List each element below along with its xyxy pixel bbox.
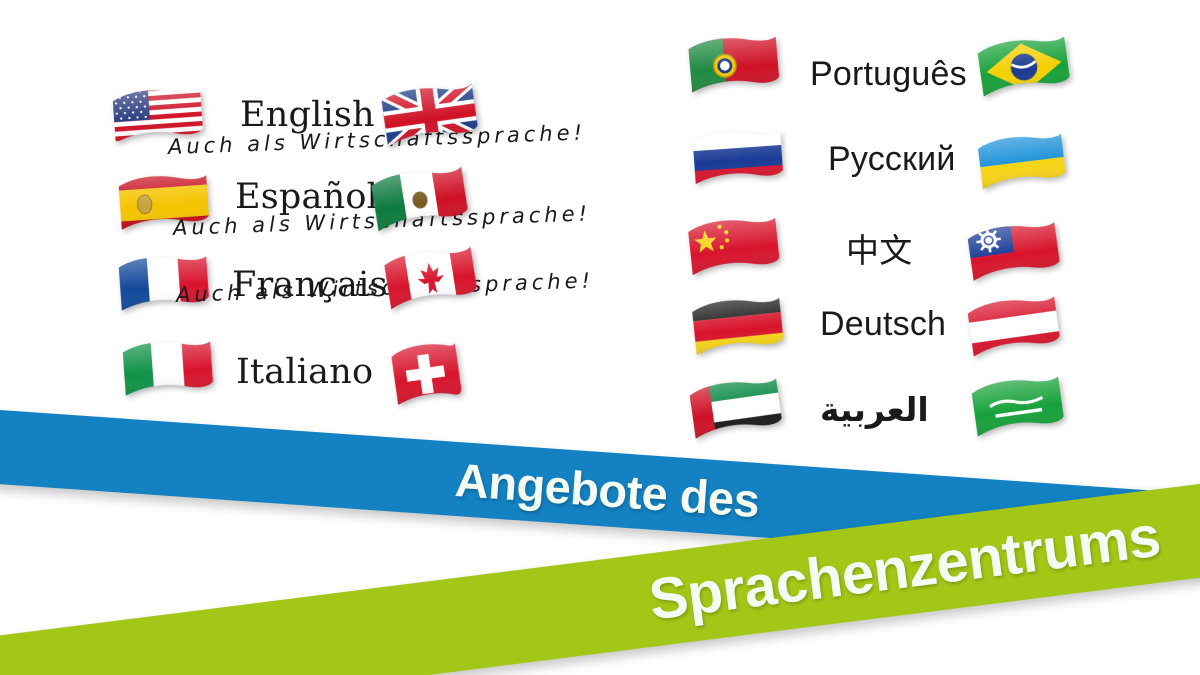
banner-title-primary: Angebote des (453, 451, 761, 527)
uk-flag (378, 78, 482, 155)
language-label-portuguese: Português (810, 55, 967, 94)
italy-flag (120, 335, 216, 403)
language-label-chinese: 中文 (846, 224, 912, 272)
tagline-english: Auch als Wirtschaftssprache! (168, 120, 587, 159)
language-label-italian: Italiano (236, 352, 373, 392)
saudi-arabia-flag (968, 370, 1068, 444)
language-label-russian: Русский (828, 140, 956, 179)
russia-flag (690, 125, 786, 191)
germany-flag (689, 291, 787, 362)
poster-canvas: English Auch als Wirtschaftssprache! (0, 0, 1200, 675)
austria-flag (964, 290, 1064, 364)
ukraine-flag (975, 128, 1069, 196)
uae-flag (686, 372, 786, 446)
language-label-german: Deutsch (820, 305, 946, 344)
language-label-arabic: العربية (820, 390, 929, 429)
taiwan-flag (964, 216, 1063, 288)
china-flag (685, 211, 783, 282)
brazil-flag (974, 30, 1074, 104)
portugal-flag (685, 30, 782, 100)
switzerland-flag (386, 335, 467, 412)
canada-flag (381, 241, 482, 317)
